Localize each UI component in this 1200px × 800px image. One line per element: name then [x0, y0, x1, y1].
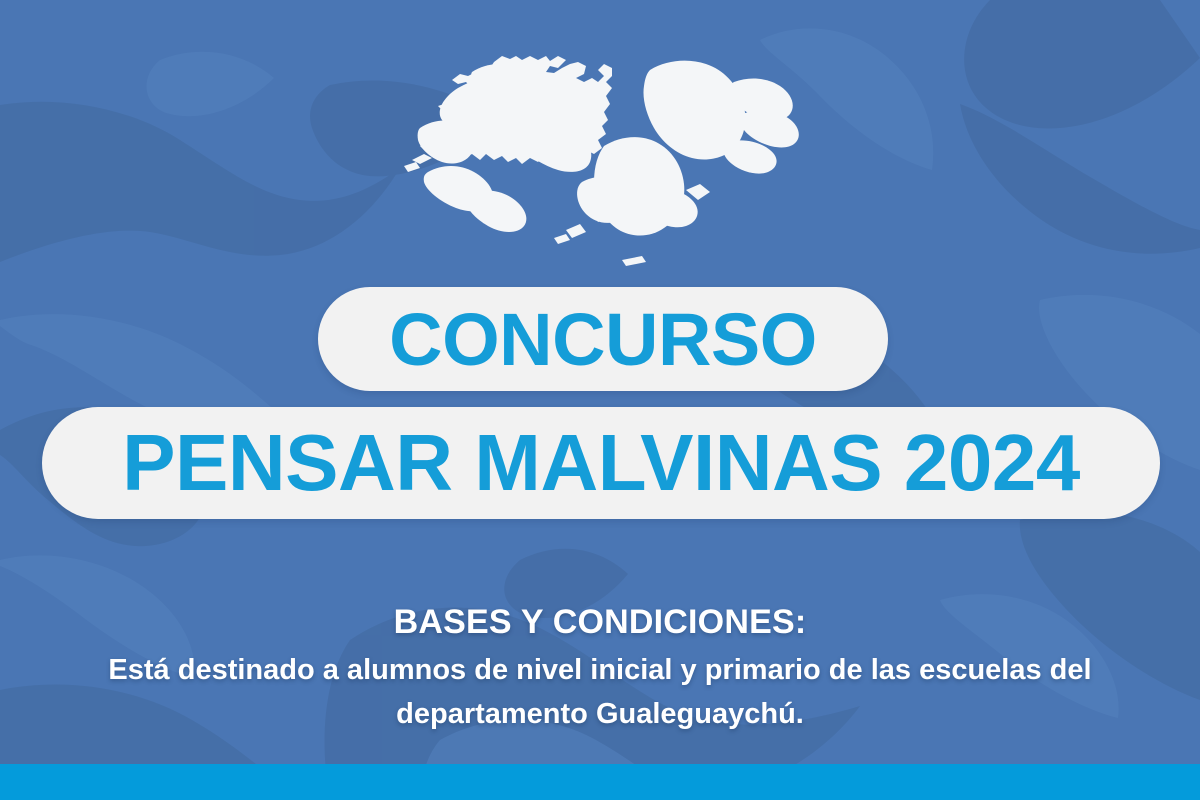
bases-body-text: Está destinado a alumnos de nivel inicia… — [0, 644, 1200, 736]
title-pill-pensar-malvinas: PENSAR MALVINAS 2024 — [42, 407, 1160, 519]
bottom-accent-bar — [0, 764, 1200, 800]
bases-section: BASES Y CONDICIONES: Está destinado a al… — [0, 600, 1200, 736]
bases-heading: BASES Y CONDICIONES: — [0, 600, 1200, 644]
malvinas-islands-map — [398, 42, 802, 274]
title-pill-concurso: CONCURSO — [318, 287, 888, 391]
poster-canvas: CONCURSO PENSAR MALVINAS 2024 BASES Y CO… — [0, 0, 1200, 800]
title-line-2: PENSAR MALVINAS 2024 — [122, 417, 1080, 509]
title-line-1: CONCURSO — [389, 297, 817, 382]
